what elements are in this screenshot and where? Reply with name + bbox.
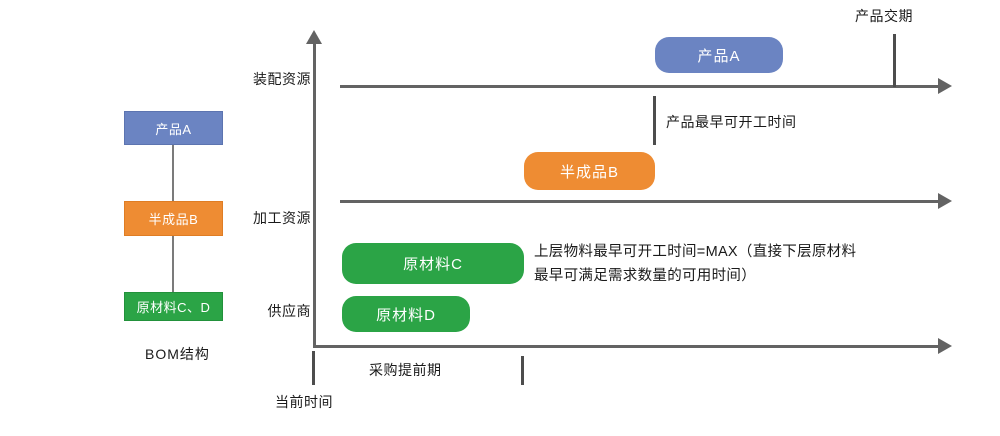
bom-connector-product-to-semi xyxy=(172,144,174,202)
timeline-bar-raw-material-c[interactable]: 原材料C xyxy=(342,243,524,284)
timeline-axis-assembly-arrow-icon xyxy=(938,78,952,94)
marker-tick-purchase-lead-time xyxy=(521,356,524,385)
bom-connector-semi-to-raw xyxy=(172,235,174,293)
timeline-axis-supplier xyxy=(313,345,940,348)
marker-label-current-time: 当前时间 xyxy=(275,392,333,412)
marker-tick-current-time xyxy=(312,351,315,385)
bom-node-product-a[interactable]: 产品A xyxy=(124,111,223,145)
bom-node-semi-finished-b-label: 半成品B xyxy=(149,209,199,228)
timeline-axis-supplier-arrow-icon xyxy=(938,338,952,354)
formula-annotation: 上层物料最早可开工时间=MAX（直接下层原材料 最早可满足需求数量的可用时间） xyxy=(534,240,954,288)
row-label-processing-resource: 加工资源 xyxy=(193,208,311,228)
marker-tick-earliest-start xyxy=(653,96,656,145)
timeline-bar-raw-material-d[interactable]: 原材料D xyxy=(342,296,470,332)
diagram-canvas: 产品A 半成品B 原材料C、D BOM结构 装配资源 加工资源 供应商 产品A … xyxy=(0,0,1000,436)
timeline-axis-processing-arrow-icon xyxy=(938,193,952,209)
timeline-bar-semi-finished-b[interactable]: 半成品B xyxy=(524,152,655,190)
marker-label-earliest-start: 产品最早可开工时间 xyxy=(666,112,797,132)
timeline-axis-processing xyxy=(340,200,940,203)
row-label-supplier: 供应商 xyxy=(193,301,311,321)
y-axis-arrow-icon xyxy=(306,30,322,44)
timeline-bar-raw-material-c-label: 原材料C xyxy=(403,253,463,274)
marker-tick-delivery-date xyxy=(893,34,896,87)
y-axis xyxy=(313,43,316,348)
timeline-bar-product-a-label: 产品A xyxy=(697,45,740,66)
timeline-bar-product-a[interactable]: 产品A xyxy=(655,37,783,73)
marker-label-purchase-lead-time: 采购提前期 xyxy=(369,360,442,380)
marker-label-delivery-date: 产品交期 xyxy=(855,6,913,26)
row-label-assembly-resource: 装配资源 xyxy=(193,69,311,89)
timeline-bar-semi-finished-b-label: 半成品B xyxy=(560,161,619,182)
bom-structure-caption: BOM结构 xyxy=(145,344,210,364)
timeline-axis-assembly xyxy=(340,85,940,88)
timeline-bar-raw-material-d-label: 原材料D xyxy=(376,304,436,325)
bom-node-product-a-label: 产品A xyxy=(155,119,191,138)
